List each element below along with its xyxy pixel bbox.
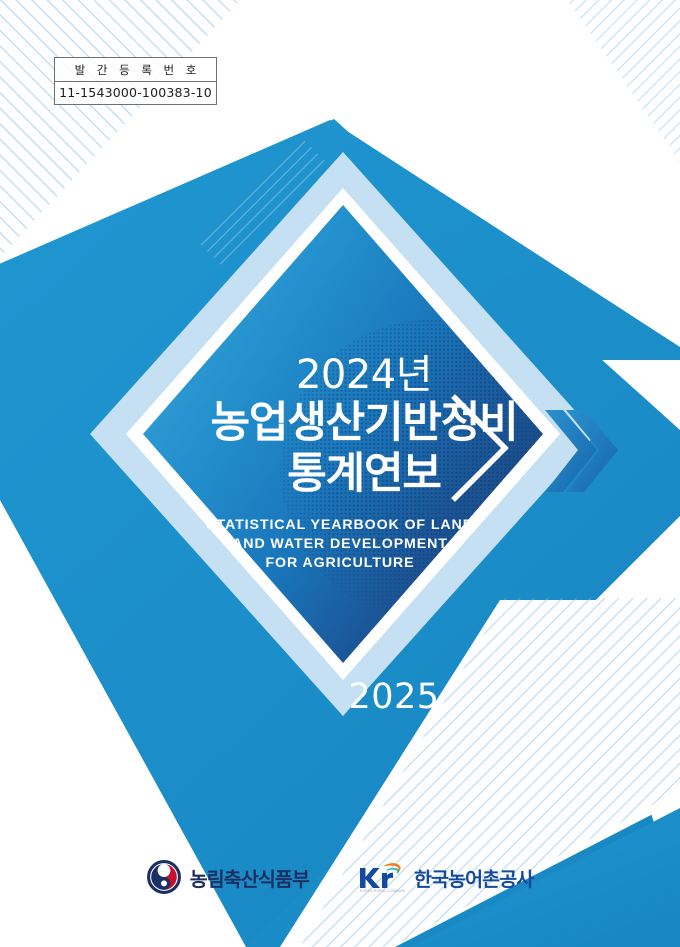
logo-ministry-of-agriculture: 농림축산식품부	[147, 860, 309, 894]
svg-text:KOREA RURAL COMMUNITY: KOREA RURAL COMMUNITY	[360, 889, 405, 893]
publication-year-value: 2025	[348, 677, 439, 717]
taegeuk-icon	[147, 860, 181, 894]
cover-artwork	[0, 0, 680, 947]
logo-korea-rural-community-corp: KOREA RURAL COMMUNITY 한국농어촌공사	[353, 861, 533, 893]
publication-year: 2025	[0, 677, 680, 717]
registration-number-box: 발 간 등 록 번 호 11-1543000-100383-10	[54, 57, 217, 105]
logo-krc-label: 한국농어촌공사	[414, 863, 533, 892]
report-cover: 발 간 등 록 번 호 11-1543000-100383-10 2024년 농…	[0, 0, 680, 947]
kr-swoosh-icon: KOREA RURAL COMMUNITY	[353, 861, 405, 893]
footer-logos: 농림축산식품부 KOREA RURAL COMMUNITY 한국농어촌공사	[0, 852, 680, 902]
registration-label: 발 간 등 록 번 호	[55, 58, 216, 82]
logo-ministry-label: 농림축산식품부	[190, 863, 309, 892]
registration-number: 11-1543000-100383-10	[55, 82, 216, 104]
